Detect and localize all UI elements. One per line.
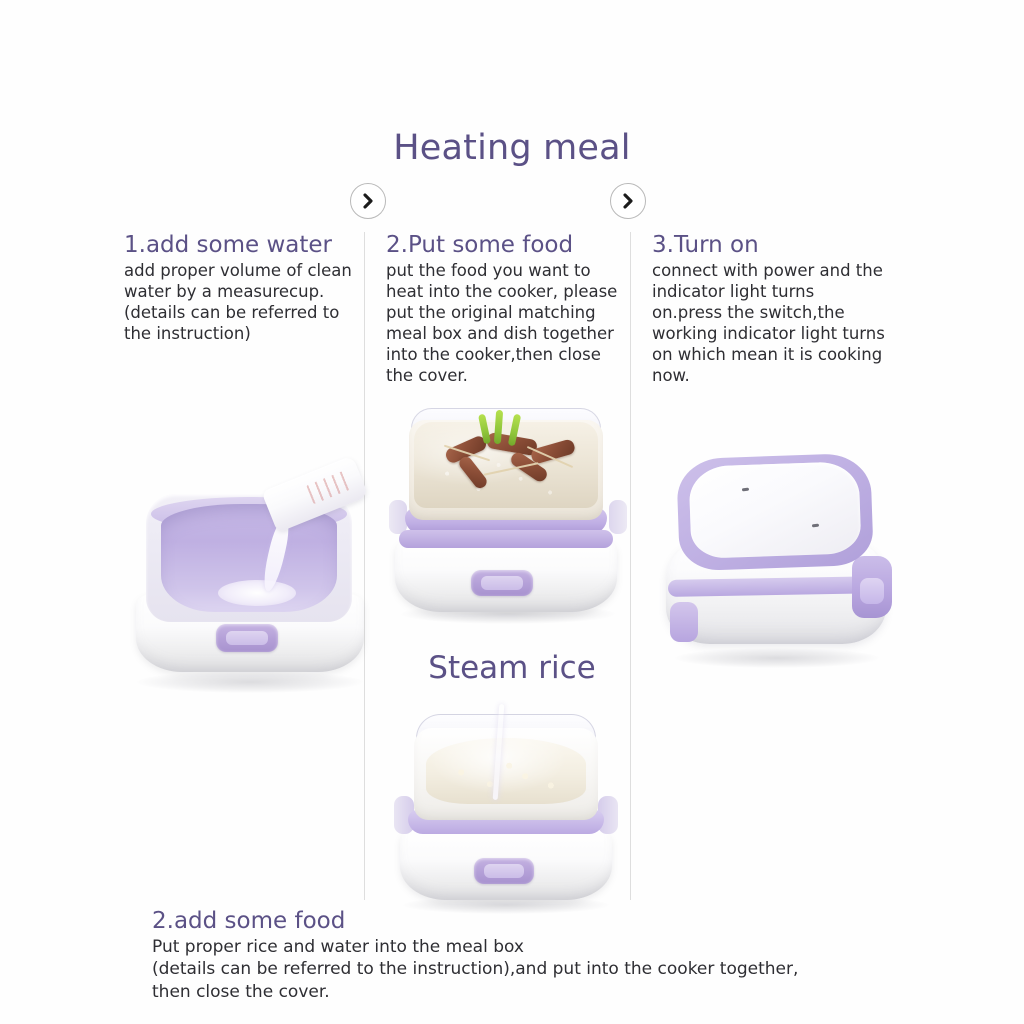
- product-image-steam-rice: [392, 712, 620, 910]
- top-lid-plate: [688, 461, 861, 559]
- step-1-body: add proper volume of clean water by a me…: [124, 261, 352, 345]
- steam-step-title: 2.add some food: [152, 908, 932, 936]
- purple-band: [399, 530, 613, 548]
- water-pool: [218, 580, 296, 606]
- step-column-2: 2.Put some food put the food you want to…: [386, 232, 624, 387]
- product-image-turn-on: [664, 452, 890, 670]
- side-clip-right: [609, 500, 627, 534]
- step-2-title: 2.Put some food: [386, 232, 624, 259]
- step-3-body: connect with power and the indicator lig…: [652, 261, 888, 387]
- steam-rice-title: Steam rice: [0, 650, 1024, 686]
- power-switch: [471, 570, 533, 596]
- step-column-1: 1.add some water add proper volume of cl…: [124, 232, 352, 345]
- steam-step-line-3: then close the cover.: [152, 981, 932, 1004]
- step-1-title: 1.add some water: [124, 232, 352, 259]
- power-switch: [474, 858, 534, 884]
- step-2-body: put the food you want to heat into the c…: [386, 261, 624, 387]
- steam-step-line-2: (details can be referred to the instruct…: [152, 958, 932, 981]
- side-latch-left: [670, 602, 698, 642]
- product-image-put-food: [383, 408, 633, 620]
- step-3-title: 3.Turn on: [652, 232, 888, 259]
- power-switch: [216, 624, 278, 652]
- step-column-3: 3.Turn on connect with power and the ind…: [652, 232, 888, 387]
- steam-step-line-1: Put proper rice and water into the meal …: [152, 936, 932, 959]
- infographic-page: Heating meal 1.add some water add proper…: [0, 0, 1024, 1024]
- cup-graduation-marks: [306, 469, 354, 504]
- steam-rice-instructions: 2.add some food Put proper rice and wate…: [152, 908, 932, 1003]
- chevron-right-icon: [350, 183, 386, 219]
- side-latch-right: [852, 556, 892, 618]
- page-title: Heating meal: [0, 128, 1024, 168]
- cooked-rice: [426, 738, 586, 804]
- chevron-right-icon: [610, 183, 646, 219]
